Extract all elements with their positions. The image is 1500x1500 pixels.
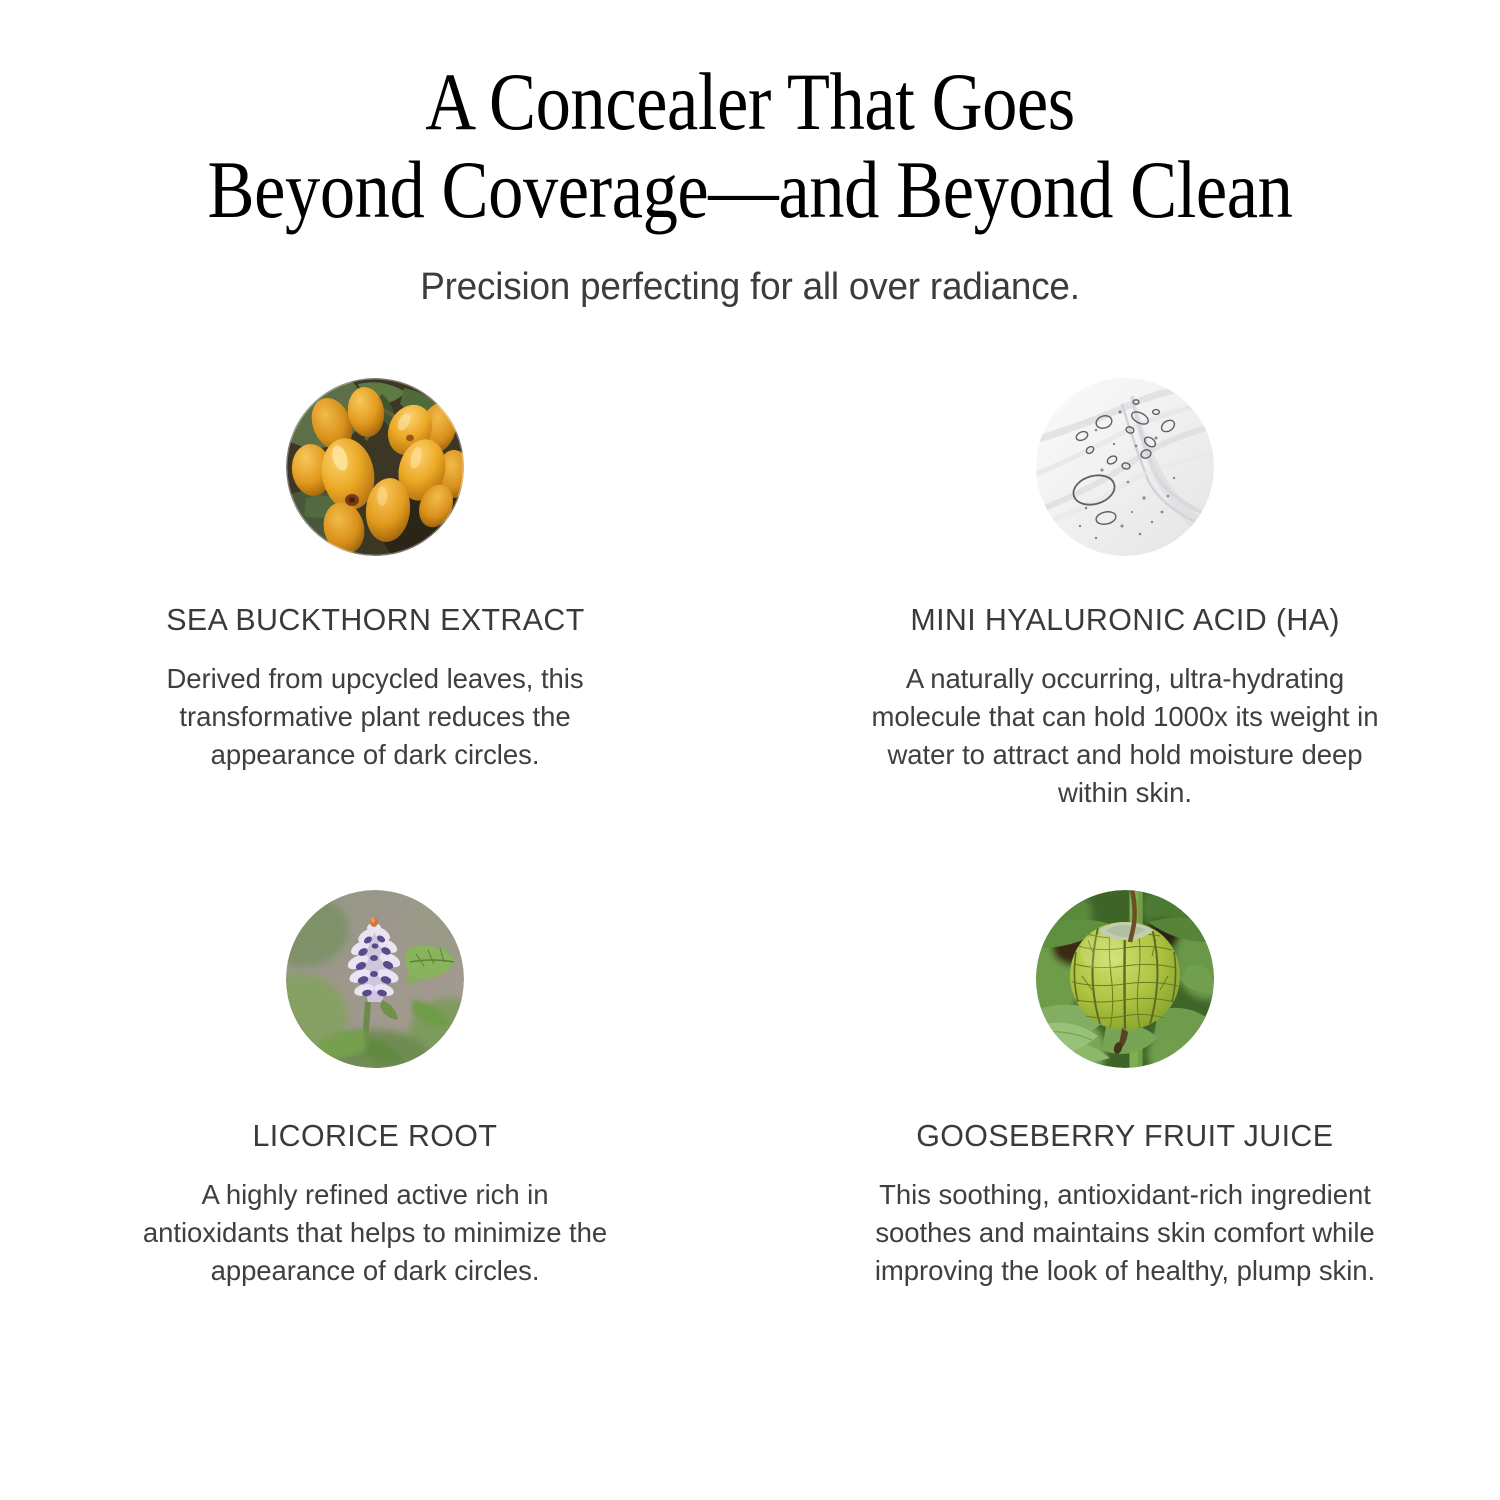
headline-line-2: Beyond Coverage—and Beyond Clean — [105, 146, 1395, 234]
licorice-root-flower-photo — [286, 890, 464, 1068]
ingredient-infographic: A Concealer That Goes Beyond Coverage—an… — [0, 0, 1500, 1500]
headline-line-1: A Concealer That Goes — [105, 58, 1395, 146]
ingredient-title: GOOSEBERRY FRUIT JUICE — [916, 1118, 1333, 1154]
ingredient-card-licorice-root: LICORICE ROOT A highly refined active ri… — [0, 890, 750, 1402]
ingredient-card-hyaluronic-acid: MINI HYALURONIC ACID (HA) A naturally oc… — [750, 378, 1500, 890]
ingredient-description: Derived from upcycled leaves, this trans… — [140, 660, 610, 774]
ingredient-title: LICORICE ROOT — [253, 1118, 498, 1154]
hyaluronic-acid-gel-texture-photo — [1036, 378, 1214, 556]
ingredient-grid: SEA BUCKTHORN EXTRACT Derived from upcyc… — [0, 378, 1500, 1402]
ingredient-description: A highly refined active rich in antioxid… — [136, 1176, 614, 1290]
ingredient-description: A naturally occurring, ultra-hydrating m… — [861, 660, 1389, 812]
ingredient-description: This soothing, antioxidant-rich ingredie… — [845, 1176, 1405, 1290]
page-subtitle: Precision perfecting for all over radian… — [23, 264, 1478, 310]
ingredient-title: MINI HYALURONIC ACID (HA) — [910, 602, 1340, 638]
page-title: A Concealer That Goes Beyond Coverage—an… — [105, 58, 1395, 234]
gooseberry-husk-fruit-photo — [1036, 890, 1214, 1068]
ingredient-card-sea-buckthorn: SEA BUCKTHORN EXTRACT Derived from upcyc… — [0, 378, 750, 890]
sea-buckthorn-berries-photo — [286, 378, 464, 556]
ingredient-title: SEA BUCKTHORN EXTRACT — [166, 602, 584, 638]
ingredient-card-gooseberry: GOOSEBERRY FRUIT JUICE This soothing, an… — [750, 890, 1500, 1402]
header: A Concealer That Goes Beyond Coverage—an… — [0, 0, 1500, 310]
